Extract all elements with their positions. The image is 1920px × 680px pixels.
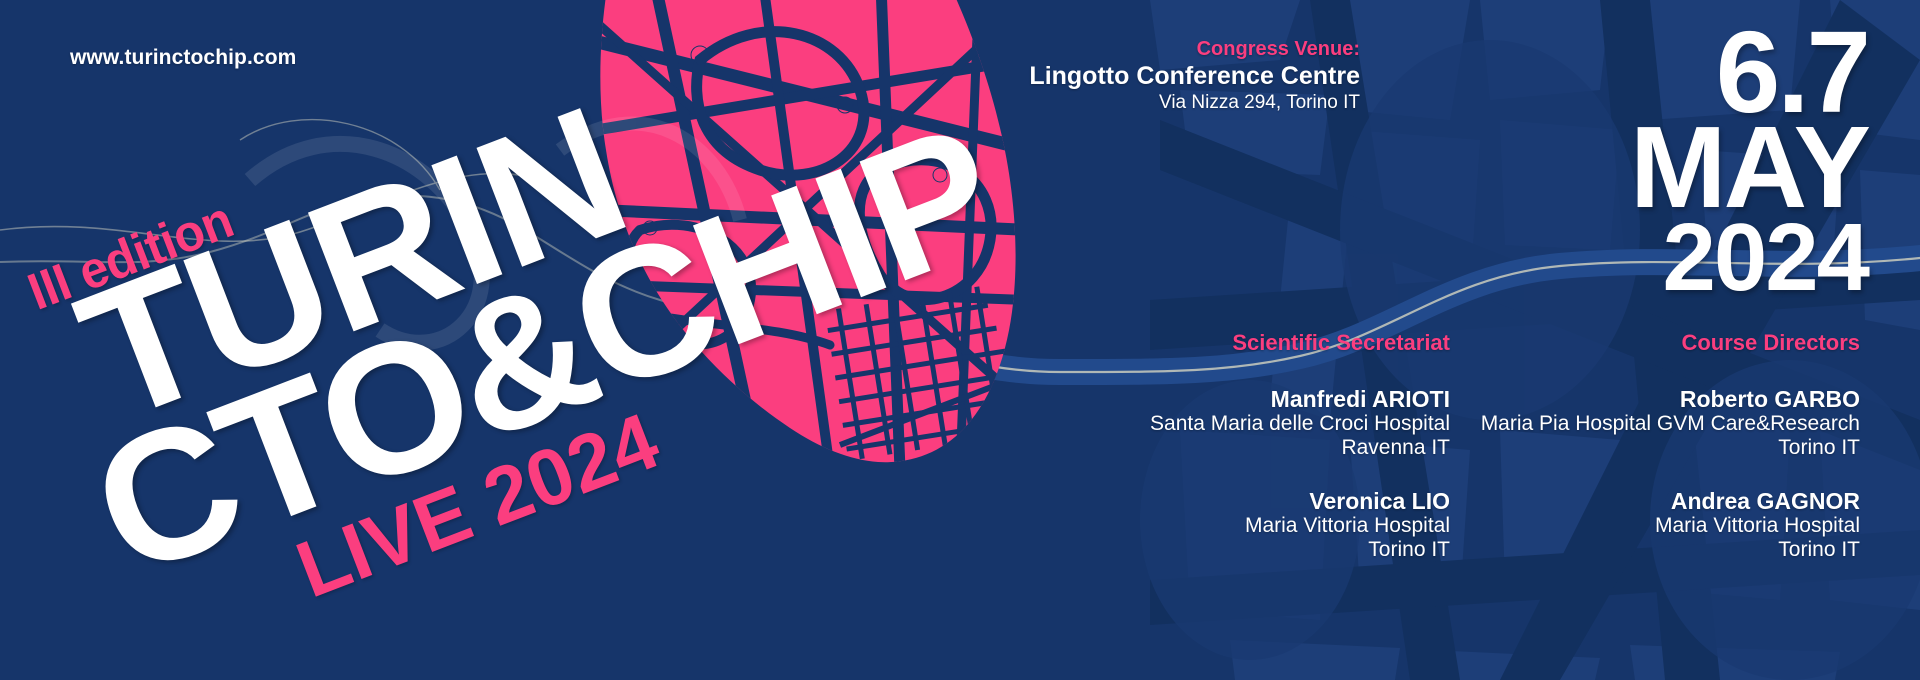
person-entry: Veronica LIO Maria Vittoria Hospital Tor… [1060, 488, 1450, 562]
event-date-year: 2024 [1630, 220, 1868, 297]
column-title: Course Directors [1470, 330, 1860, 356]
person-affiliation: Santa Maria delle Croci Hospital [1060, 412, 1450, 436]
column-title: Scientific Secretariat [1060, 330, 1450, 356]
people-columns: Scientific Secretariat Manfredi ARIOTI S… [1060, 330, 1880, 660]
person-name: Veronica LIO [1060, 488, 1450, 514]
person-entry: Manfredi ARIOTI Santa Maria delle Croci … [1060, 386, 1450, 460]
event-banner: www.turinctochip.com III edition TURIN C… [0, 0, 1920, 680]
person-name: Andrea GAGNOR [1470, 488, 1860, 514]
column-scientific-secretariat: Scientific Secretariat Manfredi ARIOTI S… [1060, 330, 1470, 660]
person-entry: Andrea GAGNOR Maria Vittoria Hospital To… [1470, 488, 1860, 562]
person-city: Torino IT [1470, 538, 1860, 562]
event-date-days: 6.7 [1630, 26, 1868, 119]
person-affiliation: Maria Vittoria Hospital [1060, 514, 1450, 538]
event-date-block: 6.7 MAY 2024 [1630, 26, 1868, 296]
venue-address: Via Nizza 294, Torino IT [1029, 92, 1360, 114]
person-affiliation: Maria Vittoria Hospital [1470, 514, 1860, 538]
person-name: Manfredi ARIOTI [1060, 386, 1450, 412]
person-city: Torino IT [1470, 436, 1860, 460]
person-city: Ravenna IT [1060, 436, 1450, 460]
person-entry: Roberto GARBO Maria Pia Hospital GVM Car… [1470, 386, 1860, 460]
person-affiliation: Maria Pia Hospital GVM Care&Research [1470, 412, 1860, 436]
venue-label: Congress Venue: [1029, 38, 1360, 61]
person-city: Torino IT [1060, 538, 1450, 562]
person-name: Roberto GARBO [1470, 386, 1860, 412]
venue-name: Lingotto Conference Centre [1029, 62, 1360, 91]
congress-venue-block: Congress Venue: Lingotto Conference Cent… [1029, 38, 1360, 114]
column-course-directors: Course Directors Roberto GARBO Maria Pia… [1470, 330, 1880, 660]
